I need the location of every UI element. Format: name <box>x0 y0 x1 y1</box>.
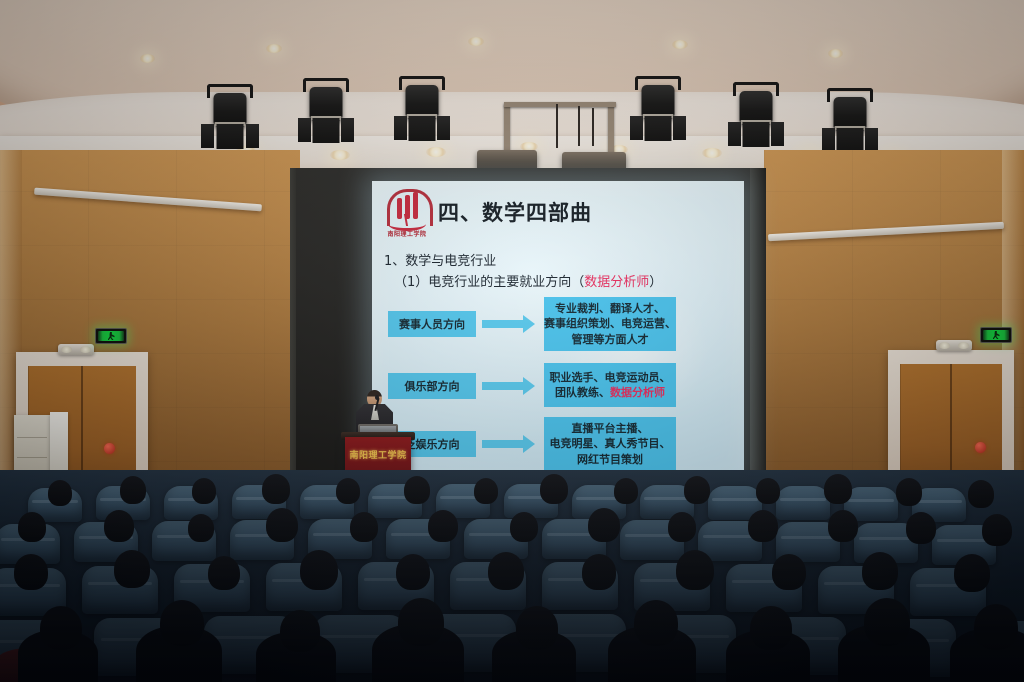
exit-sign-left <box>95 328 127 344</box>
slide-line-2-post: ） <box>649 275 662 290</box>
flow-chip-2: 俱乐部方向 <box>388 373 476 399</box>
audience-shadow-overlay <box>0 470 1024 682</box>
stage-light <box>820 88 880 158</box>
flow-panel-1-line-2: 赛事组织策划、电竞运营、 <box>544 316 676 331</box>
downlight <box>828 49 843 58</box>
stage-light <box>628 76 688 146</box>
stage-light <box>392 76 452 146</box>
projector-cable <box>578 106 580 146</box>
flow-panel-3-line-2: 电竞明星、真人秀节目、 <box>550 436 671 451</box>
downlight <box>140 54 155 63</box>
stage-light <box>726 82 786 152</box>
exit-sign-right <box>980 327 1012 343</box>
flow-panel-2-highlight: 数据分析师 <box>610 386 665 399</box>
stage-light <box>296 78 356 148</box>
flow-panel-1: 专业裁判、翻译人才、 赛事组织策划、电竞运营、 管理等方面人才 <box>544 297 676 351</box>
flow-arrow-1 <box>482 320 524 328</box>
podium-banner-text: 南阳理工学院 <box>348 448 408 461</box>
slide-line-2: （1）电竞行业的主要就业方向（数据分析师） <box>394 271 662 290</box>
flow-panel-3: 直播平台主播、 电竞明星、真人秀节目、 网红节目策划 <box>544 417 676 471</box>
downlight <box>266 44 282 53</box>
flow-panel-3-line-3: 网红节目策划 <box>577 452 643 467</box>
university-logo-icon: 南阳理工学院 <box>385 189 429 239</box>
emergency-light-left <box>58 344 94 355</box>
auditorium-photo: 南阳理工学院 四、数学四部曲 1、数学与电竞行业 （1）电竞行业的主要就业方向（… <box>0 0 1024 682</box>
slide-line-2-pre: （1）电竞行业的主要就业方向（ <box>394 275 584 290</box>
flow-panel-2-line-1: 职业选手、电竞运动员、 <box>550 370 671 385</box>
emergency-light-right <box>936 340 972 351</box>
projector-mount-rail <box>504 102 616 107</box>
slide-title: 四、数学四部曲 <box>438 197 592 227</box>
projector-mount-post <box>608 102 614 154</box>
flow-arrow-3 <box>482 440 524 448</box>
desktop-pc-tower <box>50 412 68 474</box>
flow-chip-1: 赛事人员方向 <box>388 311 476 337</box>
slide-line-1: 1、数学与电竞行业 <box>384 250 496 269</box>
stage-light <box>200 84 260 154</box>
audience-area <box>0 470 1024 682</box>
flow-panel-1-line-1: 专业裁判、翻译人才、 <box>555 301 665 316</box>
downlight <box>468 37 484 46</box>
flow-panel-1-line-3: 管理等方面人才 <box>572 332 649 347</box>
flow-panel-2: 职业选手、电竞运动员、 团队教练、数据分析师 <box>544 363 676 407</box>
downlight <box>330 150 350 160</box>
downlight <box>702 148 722 158</box>
flow-panel-2-line-2: 团队教练、数据分析师 <box>555 385 665 400</box>
left-door-knob[interactable] <box>104 443 115 454</box>
right-door-knob[interactable] <box>975 442 986 453</box>
projector-cable <box>592 108 594 146</box>
projection-screen: 南阳理工学院 四、数学四部曲 1、数学与电竞行业 （1）电竞行业的主要就业方向（… <box>372 181 744 481</box>
slide-line-2-highlight: 数据分析师 <box>584 275 649 290</box>
flow-arrow-2 <box>482 382 524 390</box>
downlight <box>672 40 688 49</box>
backdrop-edge-right <box>750 168 766 498</box>
downlight <box>426 147 446 157</box>
logo-caption: 南阳理工学院 <box>385 229 429 238</box>
projector-cable <box>556 104 558 148</box>
flow-panel-3-line-1: 直播平台主播、 <box>572 421 649 436</box>
